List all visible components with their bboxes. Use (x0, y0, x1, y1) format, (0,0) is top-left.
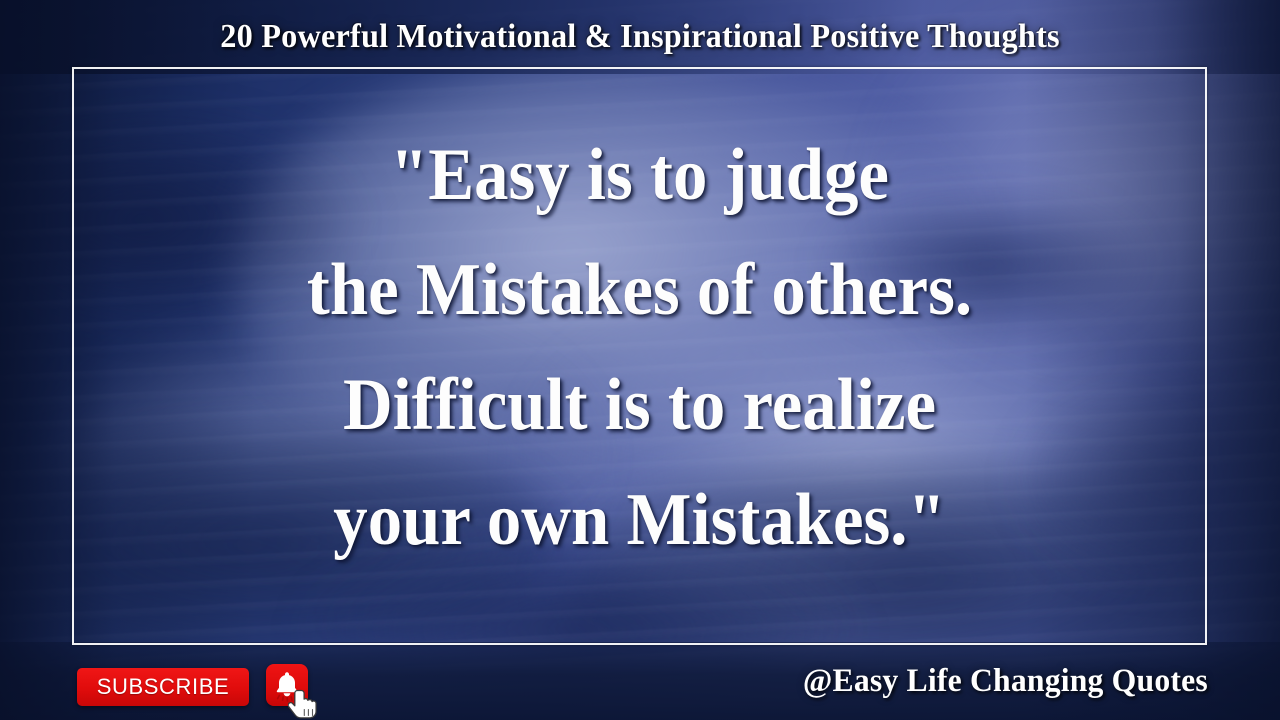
quote-line-1: "Easy is to judge (112, 118, 1168, 233)
quote-line-3: Difficult is to realize (112, 348, 1168, 463)
quote-line-4: your own Mistakes." (112, 463, 1168, 578)
subscribe-button[interactable]: SUBSCRIBE (77, 668, 249, 706)
page-title: 20 Powerful Motivational & Inspirational… (32, 18, 1248, 56)
quote-card-canvas: 20 Powerful Motivational & Inspirational… (0, 0, 1280, 720)
quote-line-2: the Mistakes of others. (112, 233, 1168, 348)
bell-icon (266, 664, 308, 706)
notification-bell-button[interactable] (266, 664, 308, 706)
subscribe-button-label: SUBSCRIBE (97, 674, 230, 700)
quote-text: "Easy is to judge the Mistakes of others… (112, 118, 1168, 578)
channel-handle: @Easy Life Changing Quotes (803, 663, 1208, 700)
